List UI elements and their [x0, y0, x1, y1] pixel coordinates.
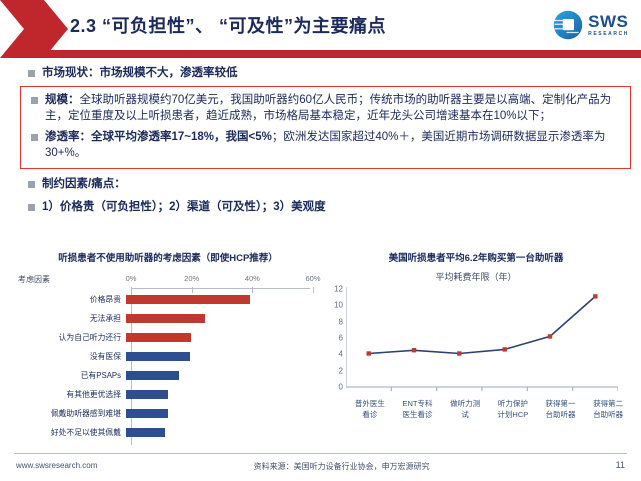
bar-chart-bar [126, 428, 165, 437]
bar-chart-row: 已有PSAPs [18, 366, 318, 385]
bullet-square-icon [28, 70, 35, 77]
bullet-text: 规模：全球助听器规模约70亿美元，我国助听器约60亿人民币；传统市场的助听器主要… [45, 92, 620, 125]
bullet-square-icon [28, 181, 35, 188]
slide-header: 2.3 “可负担性”、 “可及性”为主要痛点 SWS RESEARCH [0, 0, 641, 58]
line-chart-subtitle: 平均耗费年限（年） [320, 270, 632, 283]
bar-chart-category-label: 认为自己听力还行 [18, 332, 126, 343]
bullet-square-icon [28, 204, 35, 211]
bar-chart-plot: 考虑因素 0%20%40%60% 价格昂贵无法承担认为自己听力还行没有医保已有P… [18, 270, 318, 448]
bar-chart-category-label: 有其他更优选择 [18, 389, 126, 400]
bullet-square-icon [31, 134, 38, 141]
bar-chart-category-label: 无法承担 [18, 313, 126, 324]
bullet-constraints: 制约因素/痛点： [0, 176, 641, 193]
line-chart-y-tick-label: 8 [339, 317, 343, 326]
bar-chart-bar [126, 390, 168, 399]
line-chart-data-point [548, 334, 552, 338]
bar-chart-row: 好处不足以使其佩戴 [18, 423, 318, 442]
bullet-text: 1）价格贵（可负担性）；2）渠道（可及性）；3）美观度 [42, 199, 326, 216]
line-chart-x-label-line: 试 [441, 410, 489, 421]
bullet-market-size: 规模：全球助听器规模约70亿美元，我国助听器约60亿人民币；传统市场的助听器主要… [25, 92, 626, 125]
bullet-market-status: 市场现状：市场规模不大，渗透率较低 [0, 65, 641, 82]
line-chart-y-ticks: 024681012 [320, 285, 346, 395]
line-chart-x-label-line: 获得第一 [537, 399, 585, 410]
header-rule-gradient [28, 50, 408, 58]
line-chart-x-labels: 普外医生看诊ENT专科医生看诊做听力测试听力保护计划HCP获得第一台助听器获得第… [346, 399, 632, 420]
bar-chart-row: 有其他更优选择 [18, 385, 318, 404]
bar-chart-x-ticks: 0%20%40%60% [123, 274, 313, 286]
bar-chart-row: 无法承担 [18, 309, 318, 328]
slide-footer: www.swsresearch.com 资料来源：美国听力设备行业协会，申万宏源… [0, 453, 641, 481]
bar-chart-track [126, 423, 318, 442]
highlight-box: 规模：全球助听器规模约70亿美元，我国助听器约60亿人民币；传统市场的助听器主要… [20, 86, 631, 169]
line-chart-x-label: ENT专科医生看诊 [394, 399, 442, 420]
bar-chart-row: 佩戴助听器感到难堪 [18, 404, 318, 423]
line-chart-data-point [412, 348, 416, 352]
bar-chart-category-label: 佩戴助听器感到难堪 [18, 408, 126, 419]
bar-chart-track [126, 290, 318, 309]
footer-divider [14, 453, 627, 454]
line-chart-x-label: 做听力测试 [441, 399, 489, 420]
bar-chart-track [126, 385, 318, 404]
line-chart-data-point [457, 351, 461, 355]
line-chart-plot: 024681012 普外医生看诊ENT专科医生看诊做听力测试听力保护计划HCP获… [320, 285, 632, 405]
bullet-body-text: 全球助听器规模约70亿美元，我国助听器约60亿人民币；传统市场的助听器主要是以高… [45, 94, 611, 123]
bar-chart-x-tick-label: 20% [184, 274, 199, 283]
logo-wordmark: SWS RESEARCH [588, 13, 629, 37]
bar-chart-x-tick-label: 40% [245, 274, 260, 283]
line-chart-y-tick-label: 0 [339, 383, 343, 392]
bar-chart-row: 认为自己听力还行 [18, 328, 318, 347]
bar-chart-row: 没有医保 [18, 347, 318, 366]
line-chart-x-label: 获得第二台助听器 [584, 399, 632, 420]
line-chart-x-label-line: 看诊 [346, 410, 394, 421]
footer-page-number: 11 [616, 460, 625, 470]
slide-body: 市场现状：市场规模不大，渗透率较低 规模：全球助听器规模约70亿美元，我国助听器… [0, 58, 641, 216]
logo-research-text: RESEARCH [588, 32, 629, 37]
bar-chart-reasons: 听损患者不使用助听器的考虑因素（即使HCP推荐） 考虑因素 0%20%40%60… [18, 250, 318, 450]
line-chart-y-tick-label: 10 [334, 301, 343, 310]
bar-chart-track [126, 347, 318, 366]
line-chart-x-label: 听力保护计划HCP [489, 399, 537, 420]
line-chart-x-label-line: 获得第二 [584, 399, 632, 410]
line-chart-title: 美国听损患者平均6.2年购买第一台助听器 [320, 250, 632, 264]
bar-chart-track [126, 404, 318, 423]
bar-chart-y-axis-label: 考虑因素 [18, 274, 50, 285]
line-chart-x-label-line: 医生看诊 [394, 410, 442, 421]
line-chart-x-label-line: 台助听器 [537, 410, 585, 421]
bar-chart-title: 听损患者不使用助听器的考虑因素（即使HCP推荐） [18, 250, 318, 264]
footer-source-note: 资料来源：美国听力设备行业协会，申万宏源研究 [254, 461, 430, 472]
line-chart-svg [346, 285, 618, 397]
bar-chart-category-label: 价格昂贵 [18, 294, 126, 305]
bar-chart-track [126, 366, 318, 385]
bar-chart-track [126, 328, 318, 347]
bar-chart-rows: 价格昂贵无法承担认为自己听力还行没有医保已有PSAPs有其他更优选择佩戴助听器感… [18, 290, 318, 442]
line-chart-x-label: 获得第一台助听器 [537, 399, 585, 420]
bar-chart-track [126, 309, 318, 328]
line-chart-data-point [593, 294, 597, 298]
line-chart-data-point [503, 347, 507, 351]
bar-chart-bar [126, 371, 179, 380]
line-chart-series-line [369, 296, 596, 353]
bar-chart-bar [126, 295, 250, 304]
bar-chart-row: 价格昂贵 [18, 290, 318, 309]
logo-sws-text: SWS [588, 13, 629, 30]
bar-chart-category-label: 没有医保 [18, 351, 126, 362]
line-chart-y-tick-label: 12 [334, 285, 343, 294]
line-chart-data-point [367, 351, 371, 355]
line-chart-x-label: 普外医生看诊 [346, 399, 394, 420]
line-chart-y-tick-label: 2 [339, 366, 343, 375]
bullet-square-icon [31, 97, 38, 104]
bullet-text: 制约因素/痛点： [42, 176, 126, 193]
charts-area: 听损患者不使用助听器的考虑因素（即使HCP推荐） 考虑因素 0%20%40%60… [0, 250, 641, 455]
line-chart-x-label-line: 计划HCP [489, 410, 537, 421]
line-chart-x-label-line: ENT专科 [394, 399, 442, 410]
bar-chart-bar [126, 333, 191, 342]
page-title: 2.3 “可负担性”、 “可及性”为主要痛点 [70, 12, 386, 38]
bar-chart-bar [126, 409, 168, 418]
line-chart-x-label-line: 普外医生 [346, 399, 394, 410]
line-chart-y-tick-label: 6 [339, 334, 343, 343]
bullet-lead-label: 规模： [45, 94, 80, 106]
bar-chart-category-label: 好处不足以使其佩戴 [18, 427, 126, 438]
line-chart-years: 美国听损患者平均6.2年购买第一台助听器 平均耗费年限（年） 024681012… [320, 250, 632, 450]
line-chart-x-label-line: 做听力测 [441, 399, 489, 410]
sws-globe-icon [553, 10, 583, 40]
footer-website-link[interactable]: www.swsresearch.com [16, 461, 97, 470]
bullet-penetration-rate: 渗透率：全球平均渗透率17~18%，我国<5%；欧洲发达国家超过40%＋，美国近… [25, 129, 626, 162]
bar-chart-bar [126, 314, 205, 323]
bar-chart-category-label: 已有PSAPs [18, 370, 126, 381]
bullet-lead-label: 渗透率：全球平均渗透率17~18%，我国<5% [45, 131, 272, 143]
bar-chart-x-tick-label: 60% [305, 274, 320, 283]
line-chart-y-tick-label: 4 [339, 350, 343, 359]
bar-chart-bar [126, 352, 190, 361]
bullet-text: 市场现状：市场规模不大，渗透率较低 [42, 65, 238, 82]
bar-chart-x-tick-label: 0% [126, 274, 137, 283]
bar-chart-top-axis [131, 288, 310, 289]
sws-research-logo: SWS RESEARCH [553, 10, 629, 40]
line-chart-x-label-line: 听力保护 [489, 399, 537, 410]
bullet-painpoint-list: 1）价格贵（可负担性）；2）渠道（可及性）；3）美观度 [0, 199, 641, 216]
bullet-text: 渗透率：全球平均渗透率17~18%，我国<5%；欧洲发达国家超过40%＋，美国近… [45, 129, 620, 162]
line-chart-x-label-line: 台助听器 [584, 410, 632, 421]
